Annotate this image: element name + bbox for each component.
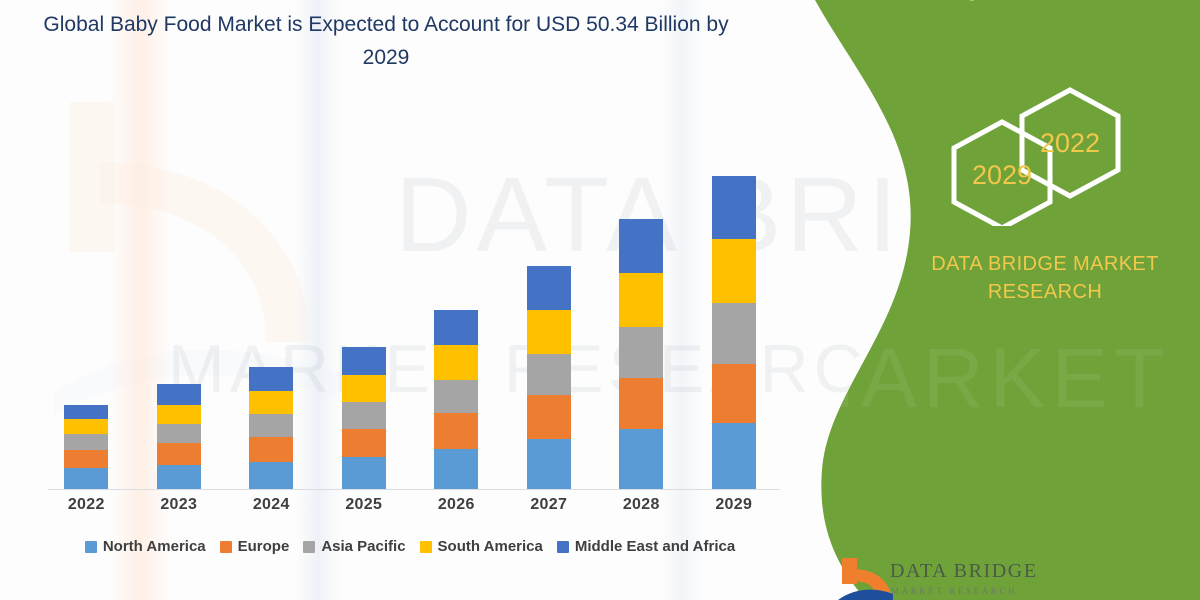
legend-swatch-icon [303, 541, 315, 553]
bar-segment [157, 443, 201, 465]
legend-label: Asia Pacific [321, 538, 405, 555]
legend-label: Europe [238, 538, 290, 555]
x-axis-tick-label: 2026 [414, 496, 498, 514]
bar-group [137, 110, 221, 490]
bar-segment [64, 450, 108, 468]
bar-group [44, 110, 128, 490]
bar-segment [527, 439, 571, 490]
bar-group [322, 110, 406, 490]
bar-segment [527, 310, 571, 354]
legend-item[interactable]: South America [420, 538, 543, 555]
green-panel-brand: DATA BRIDGE MARKET RESEARCH [890, 250, 1200, 306]
brand-line-2: RESEARCH [890, 278, 1200, 306]
bar-group [414, 110, 498, 490]
stacked-bar[interactable] [619, 219, 663, 490]
stacked-bar[interactable] [157, 384, 201, 490]
x-axis-tick-label: 2025 [322, 496, 406, 514]
legend-item[interactable]: Asia Pacific [303, 538, 405, 555]
bar-segment [434, 380, 478, 413]
x-axis-tick-label: 2022 [44, 496, 128, 514]
legend-label: North America [103, 538, 206, 555]
bar-group [692, 110, 776, 490]
bar-segment [712, 423, 756, 490]
bar-segment [342, 402, 386, 428]
bar-segment [712, 176, 756, 240]
legend-label: South America [438, 538, 543, 555]
data-bridge-b-mark-icon [836, 556, 894, 600]
green-panel-content: MARKET Regions, 2022 to 2029 2022 2029 D… [900, 0, 1200, 600]
stacked-bar[interactable] [434, 310, 478, 490]
stacked-bar[interactable] [342, 347, 386, 490]
footer-logo-name: DATA BRIDGE [890, 560, 1038, 583]
infographic-canvas: DATA BRIDGE MARKET RESEARCH Global Baby … [0, 0, 1200, 600]
bar-segment [64, 419, 108, 434]
stacked-bar-chart [40, 110, 780, 490]
legend-item[interactable]: Middle East and Africa [557, 538, 735, 555]
bar-segment [249, 437, 293, 462]
stacked-bar[interactable] [64, 405, 108, 490]
green-panel-watermark: MARKET [785, 330, 1200, 427]
bar-segment [434, 310, 478, 345]
x-axis-tick-label: 2028 [599, 496, 683, 514]
bar-segment [157, 384, 201, 404]
legend-item[interactable]: North America [85, 538, 206, 555]
bar-segment [712, 364, 756, 423]
bar-segment [249, 391, 293, 414]
bar-segment [157, 424, 201, 443]
bar-group [229, 110, 313, 490]
green-panel-title: Regions, 2022 to 2029 [880, 0, 1200, 6]
x-axis-tick-labels: 20222023202420252026202720282029 [40, 496, 780, 514]
x-axis-tick-label: 2029 [692, 496, 776, 514]
bar-segment [434, 449, 478, 490]
bar-segment [157, 405, 201, 425]
bar-segment [712, 239, 756, 303]
bar-segment [619, 219, 663, 273]
stacked-bar[interactable] [712, 176, 756, 490]
stacked-bar[interactable] [527, 266, 571, 490]
legend-swatch-icon [557, 541, 569, 553]
hexagon-2022-label: 2022 [1040, 128, 1100, 158]
x-axis-line [48, 489, 780, 490]
bar-segment [527, 266, 571, 310]
hexagon-2029-label: 2029 [972, 160, 1032, 190]
bar-segment [619, 429, 663, 490]
bar-segment [157, 465, 201, 490]
bar-segment [342, 457, 386, 490]
bar-segment [342, 375, 386, 402]
bar-segment [527, 354, 571, 395]
bar-segment [249, 462, 293, 491]
bar-segment [619, 327, 663, 378]
bar-segment [249, 414, 293, 437]
footer-logo-tagline: MARKET RESEARCH [891, 586, 1017, 596]
bar-segment [64, 434, 108, 449]
x-axis-tick-label: 2024 [229, 496, 313, 514]
legend-swatch-icon [420, 541, 432, 553]
bar-segment [64, 468, 108, 490]
bar-segment [527, 395, 571, 439]
chart-plot-area [40, 110, 780, 490]
bar-segment [619, 273, 663, 327]
bar-segment [712, 303, 756, 364]
chart-legend: North AmericaEuropeAsia PacificSouth Ame… [40, 538, 780, 555]
hexagon-year-badges: 2022 2029 [910, 86, 1190, 226]
brand-line-1: DATA BRIDGE MARKET [890, 250, 1200, 278]
bar-segment [619, 378, 663, 429]
bar-segment [342, 347, 386, 376]
legend-swatch-icon [220, 541, 232, 553]
stacked-bar[interactable] [249, 367, 293, 490]
x-axis-tick-label: 2027 [507, 496, 591, 514]
bar-segment [249, 367, 293, 391]
chart-title: Global Baby Food Market is Expected to A… [36, 8, 736, 74]
bar-group [507, 110, 591, 490]
bar-segment [342, 429, 386, 458]
legend-item[interactable]: Europe [220, 538, 290, 555]
bar-segment [434, 413, 478, 450]
x-axis-tick-label: 2023 [137, 496, 221, 514]
bar-segment [434, 345, 478, 379]
bar-segment [64, 405, 108, 420]
footer-logo[interactable]: DATA BRIDGE MARKET RESEARCH [836, 556, 1096, 600]
bar-group [599, 110, 683, 490]
legend-label: Middle East and Africa [575, 538, 735, 555]
legend-swatch-icon [85, 541, 97, 553]
